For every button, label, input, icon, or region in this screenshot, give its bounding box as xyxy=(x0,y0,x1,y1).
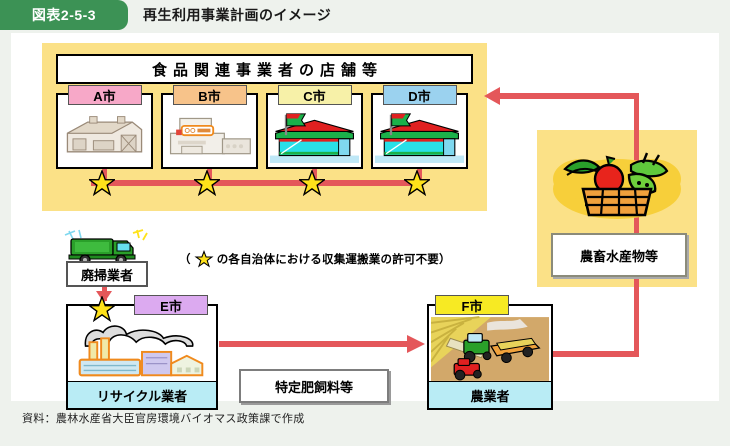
city-tag-c: C市 xyxy=(278,85,352,105)
produce-label: 農畜水産物等 xyxy=(580,246,658,265)
route-top-to-stores xyxy=(498,93,638,99)
route-recycler-to-farm xyxy=(219,341,409,347)
figure-title: 再生利用事業計画のイメージ xyxy=(143,0,331,30)
note-open-paren: （ xyxy=(179,251,191,267)
city-tag-a: A市 xyxy=(68,85,142,105)
store-card-a[interactable]: A市 xyxy=(56,93,153,169)
city-tag-d: D市 xyxy=(383,85,457,105)
arrowhead-to-farm xyxy=(407,335,425,353)
figure-number-tab: 図表2-5-3 xyxy=(0,0,128,30)
yellow-star-icon xyxy=(194,250,214,268)
arrowhead-to-stores xyxy=(484,87,500,105)
note-text: の各自治体における収集運搬業の許可不要） xyxy=(217,251,451,267)
convenience-store-icon xyxy=(270,109,359,165)
city-tag-e: E市 xyxy=(134,295,208,315)
figure-number-label: 図表2-5-3 xyxy=(32,5,96,25)
city-tag-b: B市 xyxy=(173,85,247,105)
waste-operator-box[interactable]: 廃掃業者 xyxy=(66,261,148,287)
stores-heading-box: 食品関連事業者の店舗等 xyxy=(56,54,473,84)
yellow-star-icon xyxy=(299,170,325,196)
store-card-d[interactable]: D市 xyxy=(371,93,468,169)
farm-tractor-icon xyxy=(431,316,549,382)
diagram-canvas: 食品関連事業者の店舗等 A市 B市 xyxy=(11,33,719,401)
farmer-facility[interactable]: F市 農業者 xyxy=(427,304,553,410)
source-note: 資料：農林水産省大臣官房環境バイオマス政策課で作成 xyxy=(22,410,305,426)
stores-heading-label: 食品関連事業者の店舗等 xyxy=(146,59,383,80)
permit-note: （ の各自治体における収集運搬業の許可不要） xyxy=(179,248,451,270)
vegetable-basket-icon xyxy=(547,145,687,227)
store-card-c[interactable]: C市 xyxy=(266,93,363,169)
star-connector-bar xyxy=(91,180,421,186)
recycling-plant-icon xyxy=(70,316,214,382)
produce-box[interactable]: 農畜水産物等 xyxy=(551,233,687,277)
store-card-b[interactable]: B市 xyxy=(161,93,258,169)
yellow-star-icon xyxy=(194,170,220,196)
yellow-star-icon xyxy=(89,170,115,196)
route-farm-to-right xyxy=(553,351,639,357)
recycler-label: リサイクル業者 xyxy=(68,381,216,408)
supermarket-building-icon xyxy=(165,109,254,165)
yellow-star-icon xyxy=(404,170,430,196)
yellow-star-icon xyxy=(89,296,115,322)
farmer-label: 農業者 xyxy=(429,381,551,408)
warehouse-building-icon xyxy=(60,109,149,165)
figure-header: 図表2-5-3 再生利用事業計画のイメージ xyxy=(0,0,730,32)
city-tag-f: F市 xyxy=(435,295,509,315)
waste-operator-label: 廃掃業者 xyxy=(81,265,133,284)
convenience-store-icon xyxy=(375,109,464,165)
feed-material-label: 特定肥飼料等 xyxy=(275,377,353,396)
feed-material-box[interactable]: 特定肥飼料等 xyxy=(239,369,389,403)
